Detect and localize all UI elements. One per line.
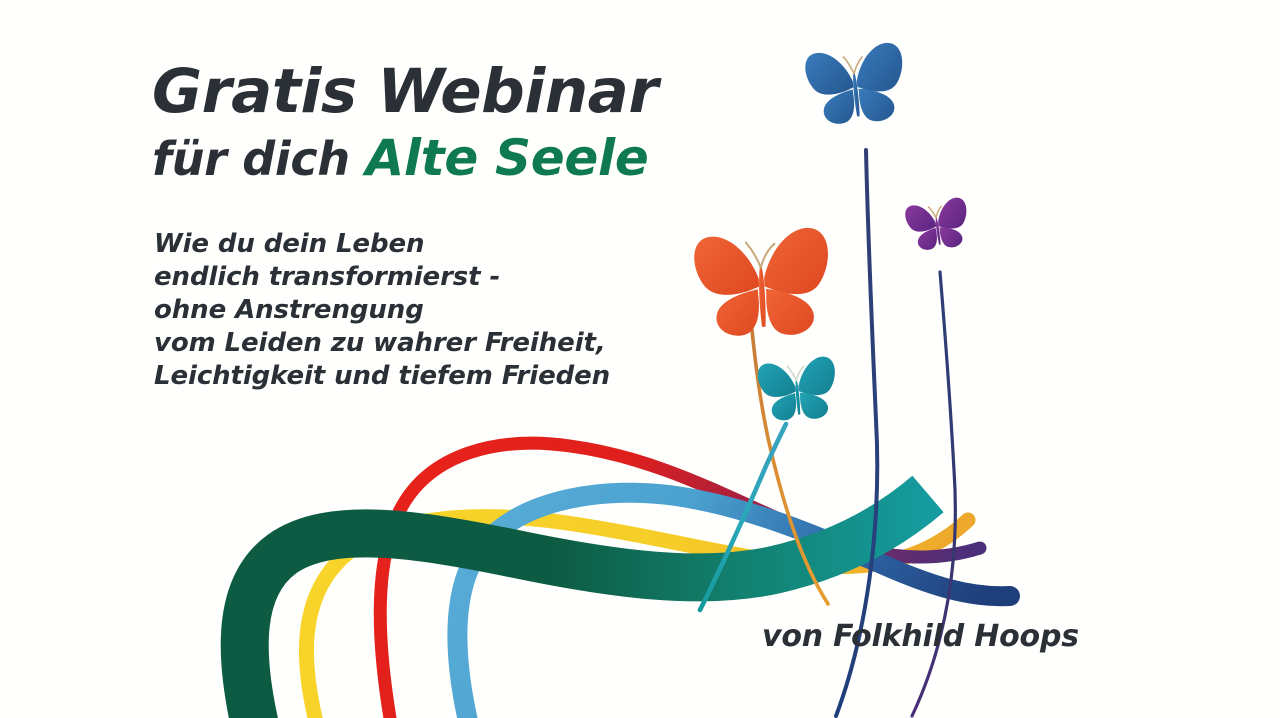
subtitle: Wie du dein Leben endlich transformierst… — [154, 228, 714, 393]
headline: Gratis Webinar für dich Alte Seele — [152, 57, 792, 188]
text-layer: Gratis Webinar für dich Alte Seele Wie d… — [0, 0, 1280, 718]
subtitle-line-4: vom Leiden zu wahrer Freiheit, — [154, 327, 714, 360]
subtitle-line-3: ohne Anstrengung — [154, 294, 714, 327]
subtitle-line-1: Wie du dein Leben — [154, 228, 714, 261]
headline-line-1: Gratis Webinar — [152, 57, 792, 127]
subtitle-line-5: Leichtigkeit und tiefem Frieden — [154, 360, 714, 393]
webinar-poster: Gratis Webinar für dich Alte Seele Wie d… — [0, 0, 1280, 718]
author-credit: von Folkhild Hoops — [762, 618, 1079, 656]
subtitle-line-2: endlich transformierst - — [154, 261, 714, 294]
headline-line-2-prefix: für dich — [152, 132, 366, 186]
headline-line-2: für dich Alte Seele — [152, 129, 792, 188]
author-name: von Folkhild Hoops — [762, 618, 1079, 656]
headline-accent-alte-seele: Alte Seele — [366, 129, 649, 187]
